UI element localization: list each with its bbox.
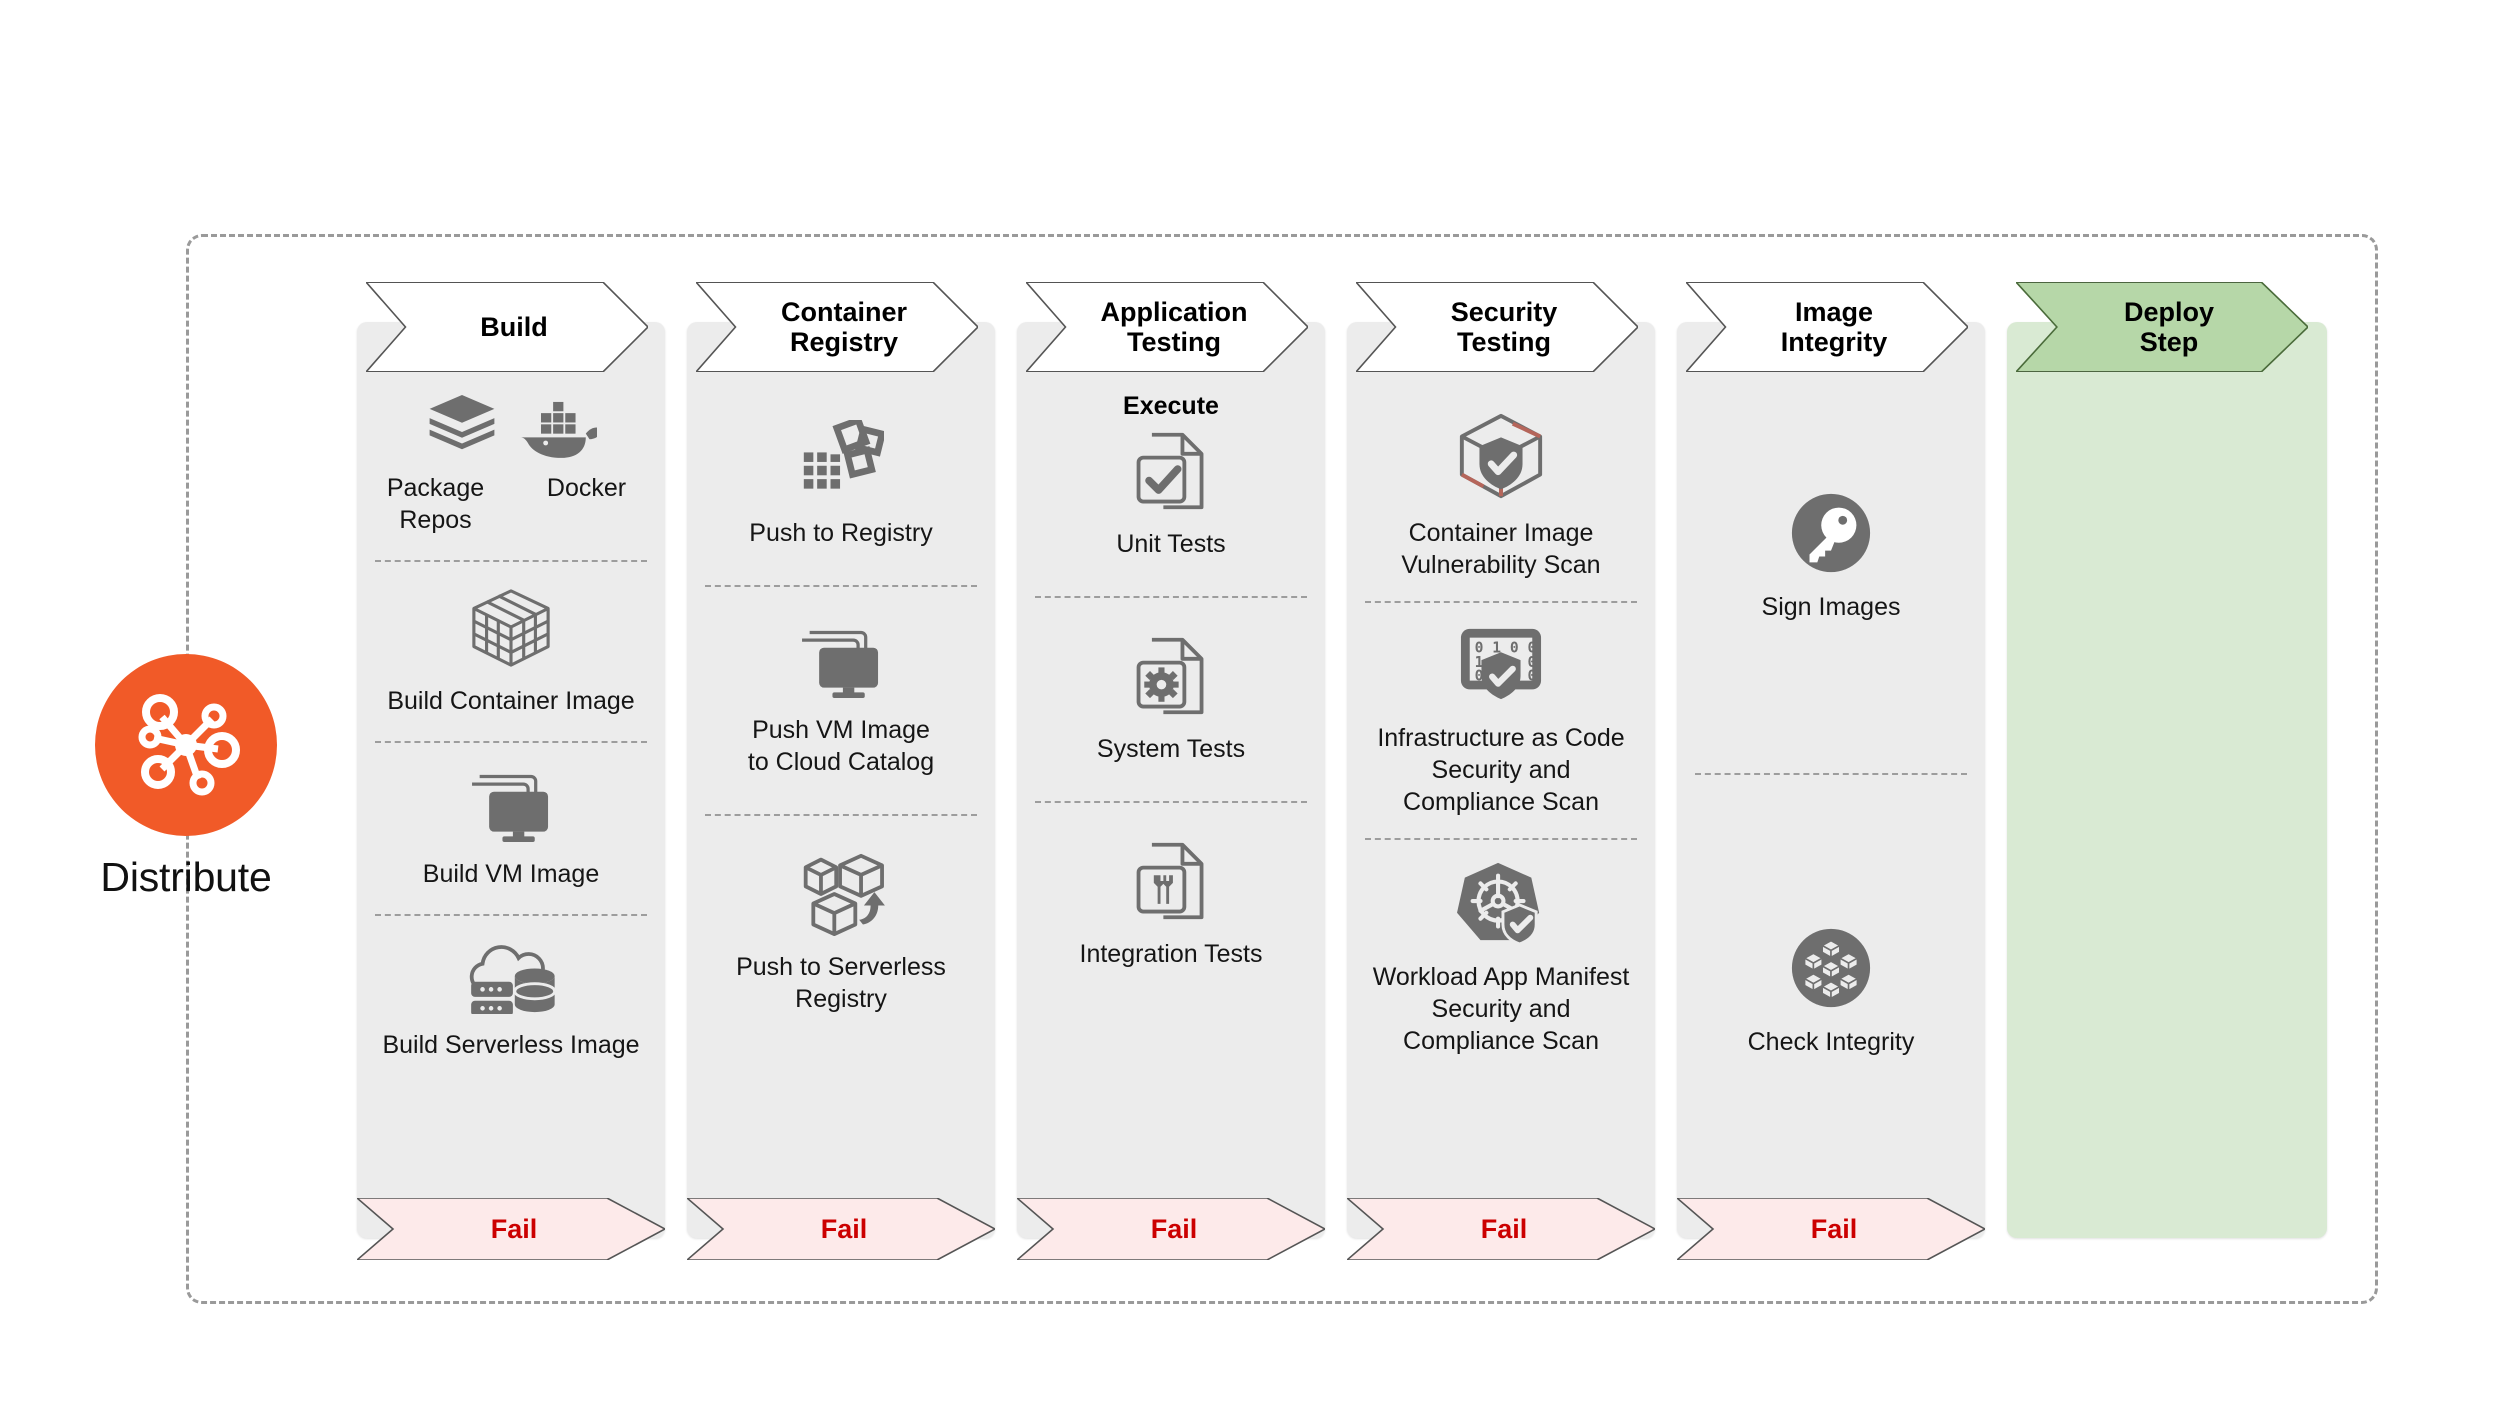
- item-divider: [1035, 596, 1307, 598]
- pipeline-item-label: Container ImageVulnerability Scan: [1357, 517, 1645, 581]
- pipeline-item[interactable]: Push VM Imageto Cloud Catalog: [697, 623, 985, 778]
- pipeline-columns: Build PackageReposDocker Build Container…: [357, 282, 2345, 1238]
- pipeline-item-label: Docker: [518, 472, 655, 536]
- vm-monitor-icon: [468, 767, 554, 843]
- pipeline-item[interactable]: System Tests: [1027, 634, 1315, 765]
- column-header-banner-security-testing[interactable]: SecurityTesting: [1356, 282, 1638, 372]
- column-header-banner-container-registry[interactable]: ContainerRegistry: [696, 282, 978, 372]
- pipeline-item-label: Push to ServerlessRegistry: [697, 951, 985, 1015]
- section-label-application-testing: Execute: [1027, 392, 1315, 421]
- column-title-deploy-step: DeployStep: [2110, 297, 2214, 357]
- column-content-security-testing: Container ImageVulnerability Scan 0 1 0 …: [1347, 372, 1655, 1198]
- registry-blocks-icon: [798, 420, 884, 502]
- fail-label: Fail: [1017, 1198, 1325, 1260]
- fail-label: Fail: [687, 1198, 995, 1260]
- pipeline-item[interactable]: Build VM Image: [367, 767, 655, 890]
- pipeline-column-image-integrity[interactable]: ImageIntegrity Sign Images Check Integri…: [1677, 282, 1985, 1238]
- pipeline-item-label: Integration Tests: [1027, 938, 1315, 970]
- pipeline-item-label: Workload App ManifestSecurity andComplia…: [1357, 961, 1645, 1057]
- pipeline-item-label: Build VM Image: [367, 858, 655, 890]
- docker-whale-icon: [513, 396, 597, 462]
- vm-monitor-icon: [798, 623, 884, 699]
- pipeline-item-label: Push to Registry: [697, 517, 985, 549]
- binary-shield-check-icon: 0 1 0 0 11 0 - 0 00 1 1 0 1: [1457, 623, 1545, 707]
- item-divider: [375, 741, 647, 743]
- item-divider: [375, 914, 647, 916]
- pipeline-item-label: Push VM Imageto Cloud Catalog: [697, 714, 985, 778]
- serverless-cloud-db-icon: [465, 940, 557, 1014]
- blockchain-circle-icon: [1788, 925, 1874, 1011]
- pipeline-item-label: Build Serverless Image: [367, 1029, 655, 1061]
- pipeline-item-label: Infrastructure as CodeSecurity andCompli…: [1357, 722, 1645, 818]
- pipeline-item[interactable]: Sign Images: [1687, 490, 1975, 623]
- pipeline-item[interactable]: Push to Registry: [697, 420, 985, 549]
- item-divider: [1365, 838, 1637, 840]
- column-title-container-registry: ContainerRegistry: [767, 297, 907, 357]
- pipeline-item[interactable]: Unit Tests: [1027, 429, 1315, 560]
- column-content-deploy-step: [2007, 372, 2327, 1198]
- key-circle-icon: [1788, 490, 1874, 576]
- column-header-banner-deploy-step[interactable]: DeployStep: [2016, 282, 2308, 372]
- fail-label: Fail: [357, 1198, 665, 1260]
- item-divider: [1695, 773, 1967, 775]
- pipeline-item[interactable]: Build Container Image: [367, 586, 655, 717]
- pipeline-item[interactable]: Build Serverless Image: [367, 940, 655, 1061]
- item-divider: [1365, 601, 1637, 603]
- document-gear-icon: [1132, 634, 1210, 718]
- pipeline-column-deploy-step[interactable]: DeployStep: [2007, 282, 2327, 1238]
- pipeline-item-label: Unit Tests: [1027, 528, 1315, 560]
- pipeline-item[interactable]: Container ImageVulnerability Scan: [1357, 410, 1645, 581]
- pipeline-item[interactable]: Workload App ManifestSecurity andComplia…: [1357, 860, 1645, 1057]
- package-repos-icon: [425, 388, 499, 462]
- column-title-build: Build: [466, 312, 548, 342]
- pipeline-item-label: System Tests: [1027, 733, 1315, 765]
- fail-banner-application-testing[interactable]: Fail: [1017, 1198, 1325, 1260]
- pipeline-column-build[interactable]: Build PackageReposDocker Build Container…: [357, 282, 665, 1238]
- pipeline-item[interactable]: Check Integrity: [1687, 925, 1975, 1058]
- serverless-cubes-arrow-icon: [796, 852, 886, 936]
- column-content-image-integrity: Sign Images Check Integrity: [1677, 372, 1985, 1198]
- pipeline-item[interactable]: 0 1 0 0 11 0 - 0 00 1 1 0 1 Infrastructu…: [1357, 623, 1645, 818]
- fail-banner-build[interactable]: Fail: [357, 1198, 665, 1260]
- column-header-banner-build[interactable]: Build: [366, 282, 648, 372]
- distribute-stage: Distribute: [60, 654, 312, 901]
- column-content-application-testing: Execute Unit Tests System Tests Integr: [1017, 372, 1325, 1198]
- item-divider: [375, 560, 647, 562]
- column-title-image-integrity: ImageIntegrity: [1767, 297, 1888, 357]
- fail-banner-security-testing[interactable]: Fail: [1347, 1198, 1655, 1260]
- pipeline-item[interactable]: PackageReposDocker: [367, 388, 655, 536]
- document-check-icon: [1132, 429, 1210, 513]
- item-divider: [1035, 801, 1307, 803]
- pipeline-item-label: Build Container Image: [367, 685, 655, 717]
- pipeline-column-security-testing[interactable]: SecurityTesting Container ImageVulnerabi…: [1347, 282, 1655, 1238]
- fail-label: Fail: [1677, 1198, 1985, 1260]
- item-divider: [705, 585, 977, 587]
- pipeline-column-container-registry[interactable]: ContainerRegistry Push to Registry Push …: [687, 282, 995, 1238]
- diagram-root: Distribute Build PackageReposDocker Buil…: [0, 0, 2500, 1406]
- column-header-banner-image-integrity[interactable]: ImageIntegrity: [1686, 282, 1968, 372]
- fail-banner-container-registry[interactable]: Fail: [687, 1198, 995, 1260]
- network-nodes-icon: [95, 654, 277, 836]
- distribute-label: Distribute: [60, 854, 312, 901]
- pipeline-item-label: Sign Images: [1687, 591, 1975, 623]
- column-content-build: PackageReposDocker Build Container Image…: [357, 372, 665, 1198]
- pipeline-column-application-testing[interactable]: ApplicationTestingExecute Unit Tests Sys…: [1017, 282, 1325, 1238]
- fail-label: Fail: [1347, 1198, 1655, 1260]
- item-divider: [705, 814, 977, 816]
- pipeline-item-label: Check Integrity: [1687, 1026, 1975, 1058]
- document-wrench-icon: [1132, 839, 1210, 923]
- column-title-security-testing: SecurityTesting: [1437, 297, 1558, 357]
- column-content-container-registry: Push to Registry Push VM Imageto Cloud C…: [687, 372, 995, 1198]
- kubernetes-shield-check-icon: [1455, 860, 1547, 946]
- pipeline-item[interactable]: Push to ServerlessRegistry: [697, 852, 985, 1015]
- pipeline-item[interactable]: Integration Tests: [1027, 839, 1315, 970]
- container-cube-icon: [468, 586, 554, 670]
- pipeline-item-label: PackageRepos: [367, 472, 504, 536]
- fail-banner-image-integrity[interactable]: Fail: [1677, 1198, 1985, 1260]
- cube-shield-check-icon: [1454, 410, 1548, 502]
- column-header-banner-application-testing[interactable]: ApplicationTesting: [1026, 282, 1308, 372]
- column-title-application-testing: ApplicationTesting: [1087, 297, 1248, 357]
